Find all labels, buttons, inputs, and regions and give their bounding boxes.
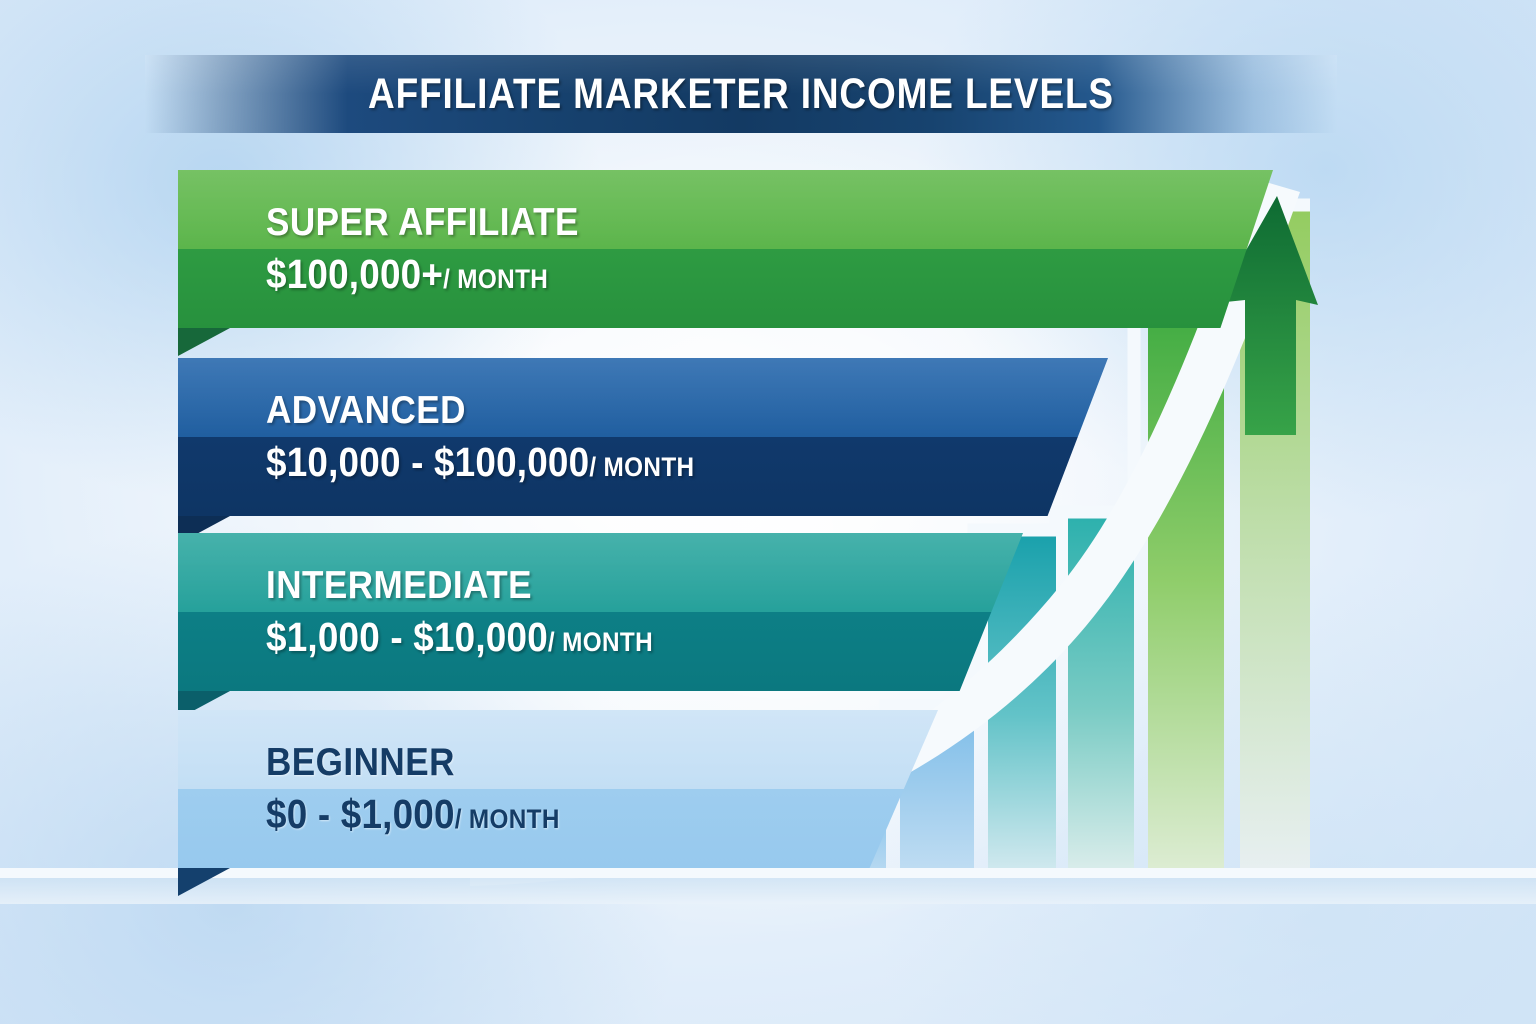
band-tier-label: BEGINNER <box>266 742 560 783</box>
income-band-super-affiliate[interactable]: SUPER AFFILIATE $100,000+/ MONTH <box>178 170 1273 328</box>
band-tier-label: ADVANCED <box>266 390 694 431</box>
band-tier-label: INTERMEDIATE <box>266 565 653 606</box>
band-text-beginner: BEGINNER $0 - $1,000/ MONTH <box>266 710 592 868</box>
band-amount-value: $10,000 - $100,000 <box>266 439 589 485</box>
band-amount-label: $0 - $1,000/ MONTH <box>266 793 560 836</box>
band-body-beginner: BEGINNER $0 - $1,000/ MONTH <box>178 710 938 868</box>
band-text-intermediate: INTERMEDIATE $1,000 - $10,000/ MONTH <box>266 533 696 691</box>
band-amount-label: $100,000+/ MONTH <box>266 253 579 296</box>
band-body-intermediate: INTERMEDIATE $1,000 - $10,000/ MONTH <box>178 533 1023 691</box>
page-title: AFFILIATE MARKETER INCOME LEVELS <box>228 55 1253 133</box>
income-band-beginner[interactable]: BEGINNER $0 - $1,000/ MONTH <box>178 710 938 868</box>
income-band-advanced[interactable]: ADVANCED $10,000 - $100,000/ MONTH <box>178 358 1108 516</box>
band-text-super-affiliate: SUPER AFFILIATE $100,000+/ MONTH <box>266 170 614 328</box>
band-amount-value: $100,000+ <box>266 251 443 297</box>
band-amount-label: $1,000 - $10,000/ MONTH <box>266 616 653 659</box>
band-amount-period: / MONTH <box>443 264 548 294</box>
band-amount-label: $10,000 - $100,000/ MONTH <box>266 441 694 484</box>
band-fold-super-affiliate <box>178 328 230 356</box>
band-amount-period: / MONTH <box>548 627 653 657</box>
chart-floor <box>0 868 1536 878</box>
chart-floor-shadow <box>0 878 1536 904</box>
income-band-intermediate[interactable]: INTERMEDIATE $1,000 - $10,000/ MONTH <box>178 533 1023 691</box>
infographic-canvas: AFFILIATE MARKETER INCOME LEVELS SUPER A… <box>0 0 1536 1024</box>
band-body-advanced: ADVANCED $10,000 - $100,000/ MONTH <box>178 358 1108 516</box>
band-amount-period: / MONTH <box>589 452 694 482</box>
band-amount-period: / MONTH <box>455 804 560 834</box>
band-amount-value: $0 - $1,000 <box>266 791 455 837</box>
band-fold-beginner <box>178 868 230 896</box>
band-tier-label: SUPER AFFILIATE <box>266 202 579 243</box>
band-amount-value: $1,000 - $10,000 <box>266 614 548 660</box>
title-banner: AFFILIATE MARKETER INCOME LEVELS <box>145 55 1337 133</box>
band-body-super-affiliate: SUPER AFFILIATE $100,000+/ MONTH <box>178 170 1273 328</box>
band-text-advanced: ADVANCED $10,000 - $100,000/ MONTH <box>266 358 742 516</box>
